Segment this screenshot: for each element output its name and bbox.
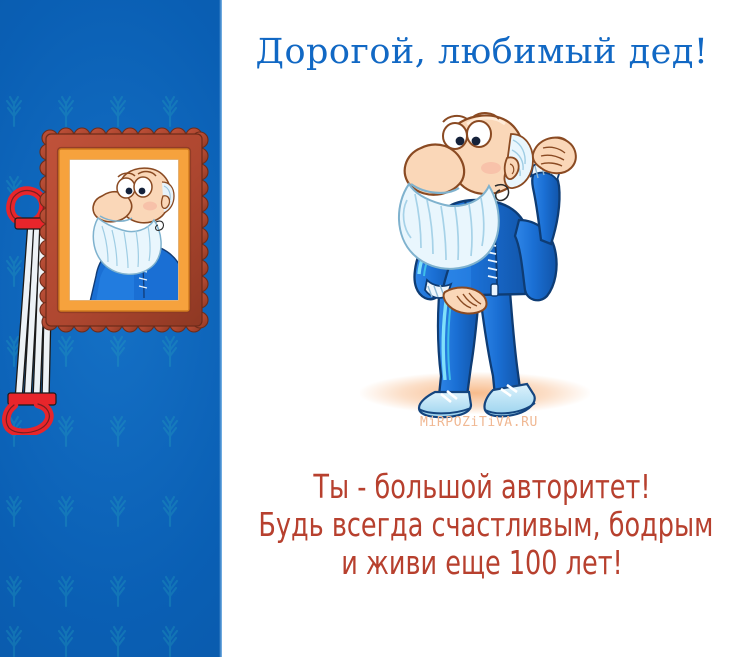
grandfather-figure-illustration [355,108,625,428]
message-line-3: и живи еще 100 лет! [258,544,705,582]
portrait-picture-frame [38,126,210,334]
sneakers [419,384,535,417]
site-watermark: MiRPOZiTiVA.RU [420,415,580,430]
greeting-card: Дорогой, любимый дед! [0,0,742,657]
grandfather-portrait-drawing [70,160,184,302]
message-line-1: Ты - большой авторитет! [258,468,705,506]
greeting-message: Ты - большой авторитет! Будь всегда счас… [222,468,742,582]
card-title: Дорогой, любимый дед! [222,32,742,72]
message-line-2: Будь всегда счастливым, бодрым [258,506,705,544]
